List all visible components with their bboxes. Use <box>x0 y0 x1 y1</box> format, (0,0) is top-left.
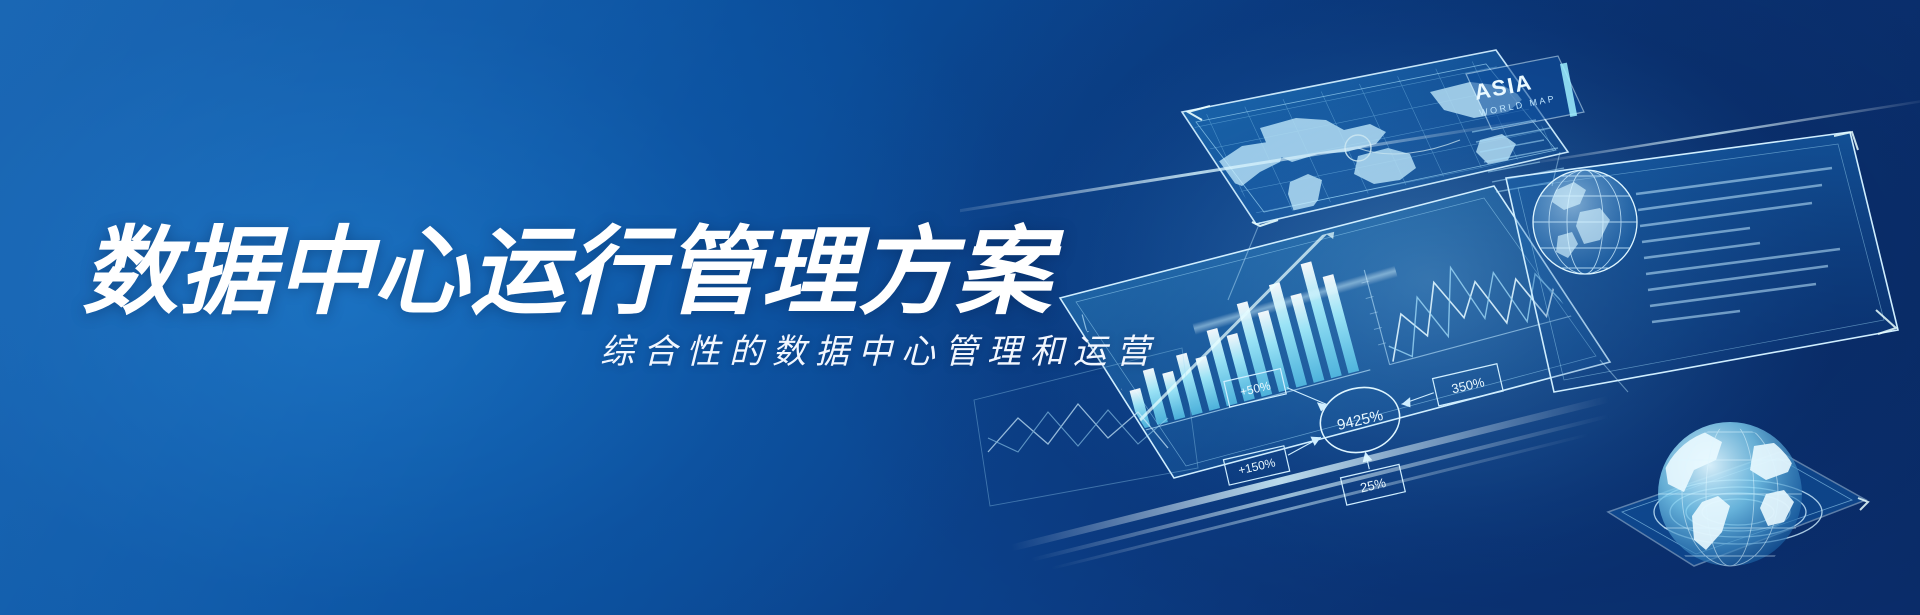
hero-banner: 数据中心运行管理方案 综合性的数据中心管理和运营 <box>0 0 1920 615</box>
page-subtitle: 综合性的数据中心管理和运营 <box>600 332 1159 373</box>
text-panel <box>1506 132 1898 392</box>
page-title: 数据中心运行管理方案 <box>82 224 1052 322</box>
wireframe-globe <box>1533 170 1637 274</box>
hud-illustration: ASIA WORLD MAP <box>960 0 1920 615</box>
banner-text-block: 数据中心运行管理方案 综合性的数据中心管理和运营 <box>0 0 1080 615</box>
